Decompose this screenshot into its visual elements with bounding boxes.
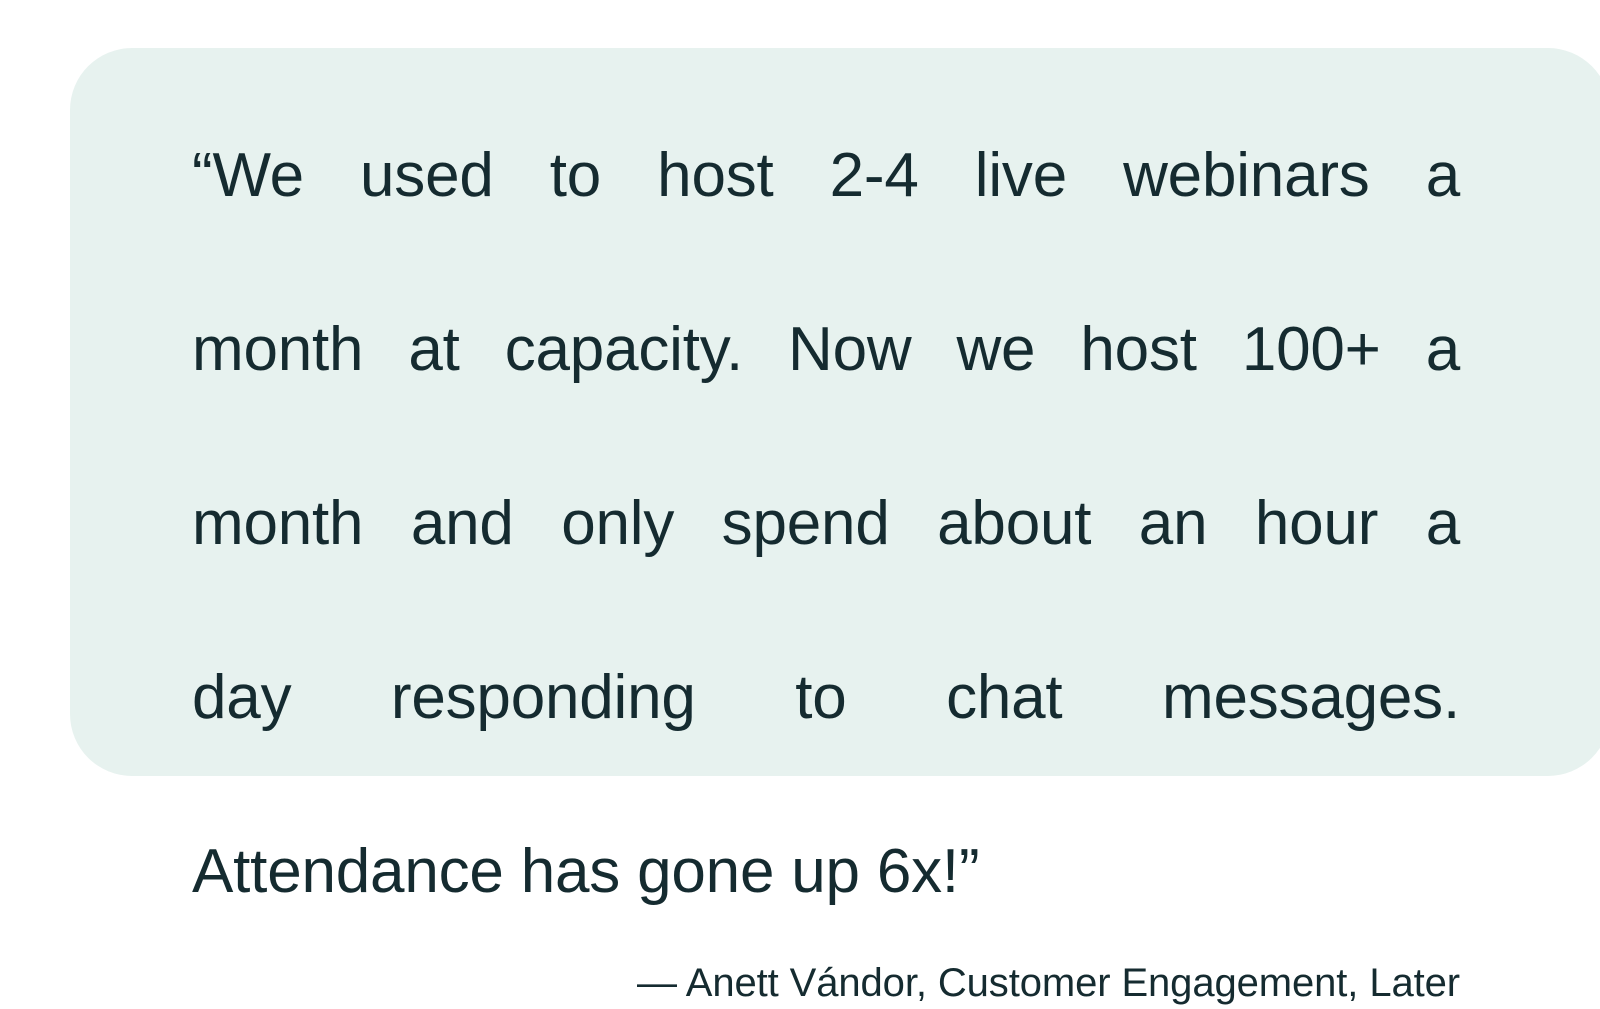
quote-attribution: — Anett Vándor, Customer Engagement, Lat… — [192, 957, 1460, 1009]
page-root: “We used to host 2-4 live webinars a mon… — [0, 0, 1600, 800]
quote-line: “We used to host 2-4 live webinars a — [192, 132, 1460, 306]
testimonial-card: “We used to host 2-4 live webinars a mon… — [70, 48, 1600, 776]
quote-text: “We used to host 2-4 live webinars a mon… — [192, 132, 1460, 915]
quote-line: day responding to chat messages. — [192, 654, 1460, 828]
quote-line: month at capacity. Now we host 100+ a — [192, 306, 1460, 480]
quote-line: Attendance has gone up 6x!” — [192, 828, 1460, 915]
quote-line: month and only spend about an hour a — [192, 480, 1460, 654]
